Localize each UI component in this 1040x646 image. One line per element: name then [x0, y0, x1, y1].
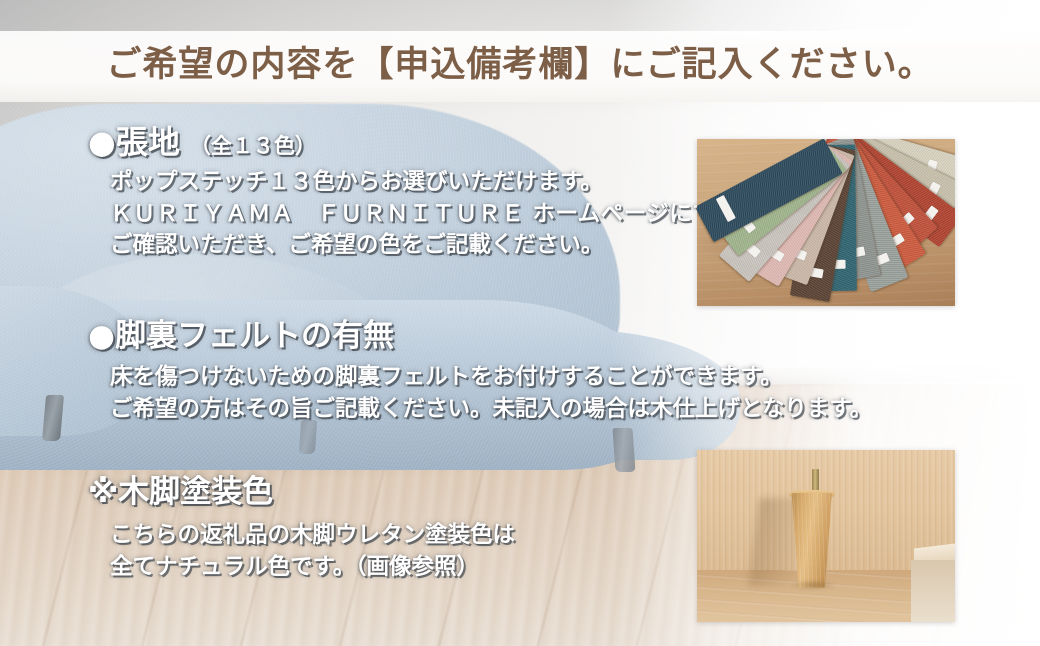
- section-fabric-heading: ●張地（全１３色）: [88, 126, 784, 160]
- section-fabric-body-line: ＫＵＲＩＹＡＭＡ ＦＵＲＮＩＴＵＲＥ ホームページにて詳細を: [110, 199, 784, 231]
- section-felt-body-line: 床を傷つけないための脚裏フェルトをお付けすることができます。: [110, 361, 872, 394]
- section-felt-body: 床を傷つけないための脚裏フェルトをお付けすることができます。 ご希望の方はその旨…: [88, 361, 872, 426]
- page-title: ご希望の内容を【申込備考欄】にご記入ください。: [106, 48, 933, 85]
- bullet-icon: ●: [88, 126, 116, 160]
- poster-canvas: ご希望の内容を【申込備考欄】にご記入ください。 ●張地（全１３色） ポップステッ…: [0, 0, 1040, 646]
- leg-foot-shadow: [782, 581, 844, 590]
- section-fabric-heading-text: 張地: [116, 126, 180, 160]
- section-paint-body-line: 全てナチュラル色です。（画像参照）: [110, 551, 515, 584]
- fabric-swatch-photo: [697, 139, 955, 306]
- section-fabric-body-line: ご確認いただき、ご希望の色をご記載ください。: [110, 230, 784, 262]
- section-felt-body-line: ご希望の方はその旨ご記載ください。未記入の場合は木仕上げとなります。: [110, 393, 872, 426]
- section-fabric-heading-sub: （全１３色）: [190, 135, 316, 157]
- section-paint-heading-text: 木脚塗装色: [118, 474, 273, 510]
- section-paint-body-line: こちらの返礼品の木脚ウレタン塗装色は: [110, 519, 515, 552]
- leg-photo-right-floor: [911, 560, 955, 622]
- wooden-leg-photo: [697, 450, 955, 622]
- section-paint-heading: ※木脚塗装色: [88, 476, 515, 509]
- section-felt-heading-text: 脚裏フェルトの有無: [115, 318, 394, 354]
- section-felt: ●脚裏フェルトの有無 床を傷つけないための脚裏フェルトをお付けすることができます…: [88, 320, 872, 426]
- section-fabric-body: ポップステッチ１３色からお選びいただけます。 ＫＵＲＩＹＡＭＡ ＦＵＲＮＩＴＵＲ…: [88, 167, 784, 263]
- header-band: ご希望の内容を【申込備考欄】にご記入ください。: [0, 31, 1040, 102]
- section-fabric-body-line: ポップステッチ１３色からお選びいただけます。: [110, 167, 784, 199]
- section-paint-body: こちらの返礼品の木脚ウレタン塗装色は 全てナチュラル色です。（画像参照）: [88, 519, 515, 584]
- asterisk-icon: ※: [88, 474, 118, 510]
- section-fabric: ●張地（全１３色） ポップステッチ１３色からお選びいただけます。 ＫＵＲＩＹＡＭ…: [88, 126, 784, 262]
- section-felt-heading: ●脚裏フェルトの有無: [88, 320, 872, 353]
- bullet-icon: ●: [88, 318, 115, 354]
- leg-bolt-icon: [812, 469, 819, 493]
- section-paint: ※木脚塗装色 こちらの返礼品の木脚ウレタン塗装色は 全てナチュラル色です。（画像…: [88, 476, 515, 584]
